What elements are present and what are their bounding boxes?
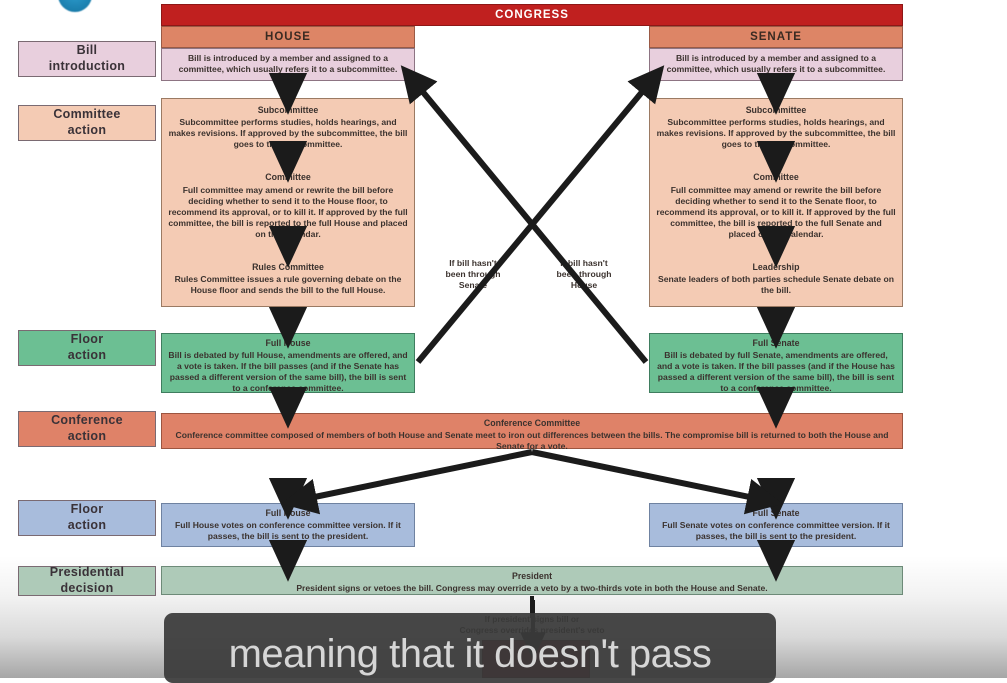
stage-label-floor-action-2: Flooraction	[18, 500, 156, 536]
senate-floor-action-2-box: Full Senate Full Senate votes on confere…	[649, 503, 903, 547]
house-full-house-title: Full House	[168, 338, 408, 349]
conference-committee-title: Conference Committee	[168, 418, 896, 429]
cross-label-if-not-through-house: If bill hasn'tbeen throughHouse	[541, 258, 627, 292]
senate-leadership-body: Senate leaders of both parties schedule …	[656, 274, 896, 296]
senate-subcommittee-body: Subcommittee performs studies, holds hea…	[656, 117, 896, 150]
conference-committee-box: Conference Committee Conference committe…	[161, 413, 903, 449]
house-floor-action-box: Full House Bill is debated by full House…	[161, 333, 415, 393]
senate-committee-action-box: Subcommittee Subcommittee performs studi…	[649, 98, 903, 307]
house-bill-introduction-box: Bill is introduced by a member and assig…	[161, 48, 415, 81]
house-floor-action-2-box: Full House Full House votes on conferenc…	[161, 503, 415, 547]
president-box: President President signs or vetoes the …	[161, 566, 903, 595]
senate-subcommittee-title: Subcommittee	[656, 105, 896, 116]
senate-bill-introduction-box: Bill is introduced by a member and assig…	[649, 48, 903, 81]
cross-label-if-not-through-senate: If bill hasn'tbeen throughSenate	[430, 258, 516, 292]
house-full-house-body: Bill is debated by full House, amendment…	[168, 350, 408, 394]
senate-full-senate-2-body: Full Senate votes on conference committe…	[656, 520, 896, 542]
house-full-house-2-title: Full House	[168, 508, 408, 519]
house-rules-committee-title: Rules Committee	[168, 262, 408, 273]
house-committee-action-box: Subcommittee Subcommittee performs studi…	[161, 98, 415, 307]
stage-label-presidential-decision: Presidentialdecision	[18, 566, 156, 596]
stage-label-committee-action: Committeeaction	[18, 105, 156, 141]
president-title: President	[168, 571, 896, 582]
senate-full-senate-body: Bill is debated by full Senate, amendmen…	[656, 350, 896, 394]
house-subcommittee-body: Subcommittee performs studies, holds hea…	[168, 117, 408, 150]
stage-label-conference-action: Conferenceaction	[18, 411, 156, 447]
senate-committee-title: Committee	[656, 172, 896, 183]
house-subcommittee-title: Subcommittee	[168, 105, 408, 116]
house-rules-committee-body: Rules Committee issues a rule governing …	[168, 274, 408, 296]
stage-label-floor-action-1: Flooraction	[18, 330, 156, 366]
house-committee-body: Full committee may amend or rewrite the …	[168, 185, 408, 240]
house-full-house-2-body: Full House votes on conference committee…	[168, 520, 408, 542]
caption-text: meaning that it doesn't pass	[164, 632, 776, 677]
house-committee-title: Committee	[168, 172, 408, 183]
president-body: President signs or vetoes the bill. Cong…	[168, 583, 896, 594]
senate-full-senate-title: Full Senate	[656, 338, 896, 349]
senate-introduction-text: Bill is introduced by a member and assig…	[656, 53, 896, 75]
senate-floor-action-box: Full Senate Bill is debated by full Sena…	[649, 333, 903, 393]
stage-label-bill-introduction: Billintroduction	[18, 41, 156, 77]
senate-full-senate-2-title: Full Senate	[656, 508, 896, 519]
senate-leadership-title: Leadership	[656, 262, 896, 273]
senate-committee-body: Full committee may amend or rewrite the …	[656, 185, 896, 240]
congress-header: CONGRESS	[161, 4, 903, 26]
conference-committee-body: Conference committee composed of members…	[168, 430, 896, 452]
house-introduction-text: Bill is introduced by a member and assig…	[168, 53, 408, 75]
house-header: HOUSE	[161, 26, 415, 48]
senate-header: SENATE	[649, 26, 903, 48]
how-a-bill-becomes-law-diagram: CONGRESS HOUSE SENATE Billintroduction C…	[0, 0, 1007, 620]
